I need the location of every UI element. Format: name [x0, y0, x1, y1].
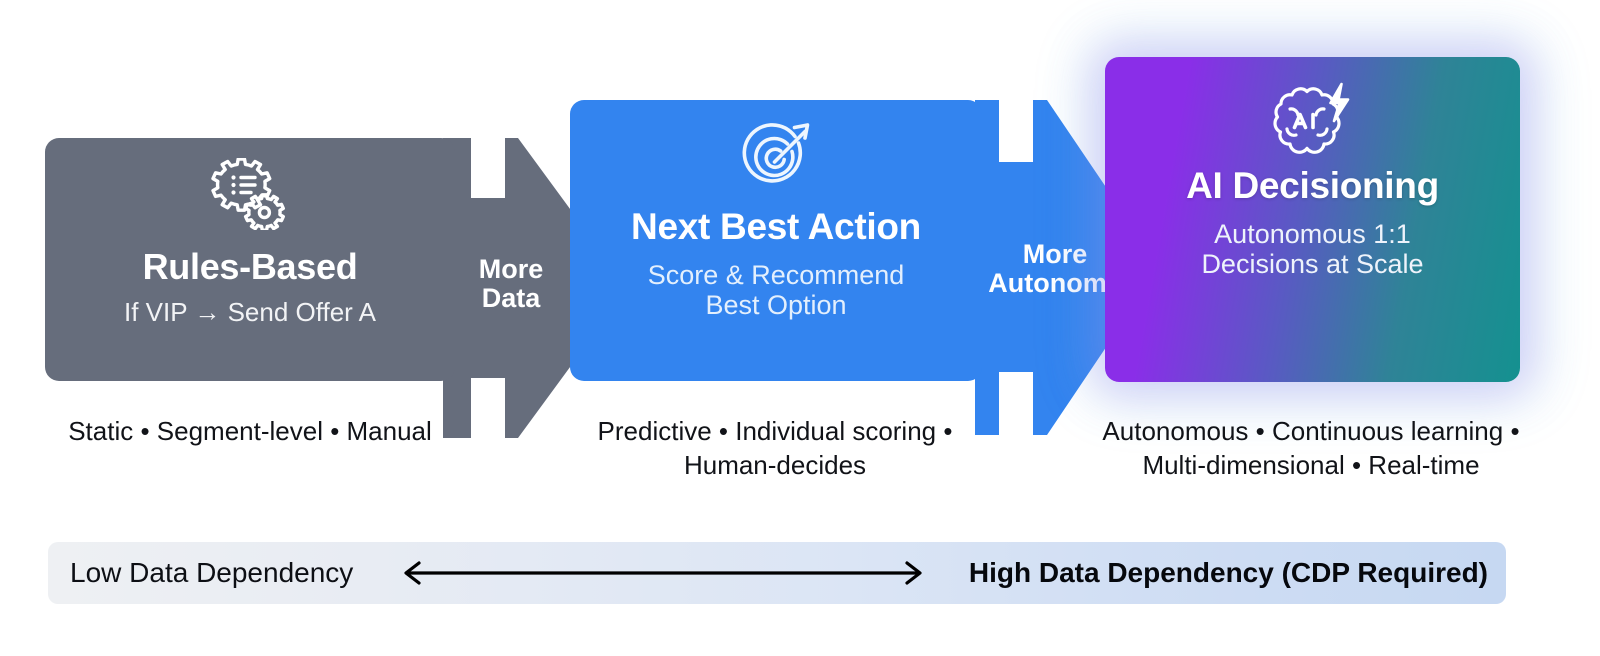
gear-list-icon: [45, 158, 455, 230]
scale-low-label: Low Data Dependency: [70, 557, 353, 589]
stage-card-rules-based[interactable]: Rules-Based If VIP → Send Offer A: [45, 138, 455, 381]
stage-subtitle-ai-decisioning: Autonomous 1:1 Decisions at Scale: [1105, 219, 1520, 279]
scale-high-label: High Data Dependency (CDP Required): [969, 557, 1488, 589]
progression-diagram: More Data More Autonomy Rules-Based: [0, 0, 1600, 656]
stage-card-ai-decisioning[interactable]: AI Decisioning Autonomous 1:1 Decisions …: [1105, 57, 1520, 382]
stage-title-ai-decisioning: AI Decisioning: [1105, 167, 1520, 206]
stage-subtitle-rules-based: If VIP → Send Offer A: [45, 298, 455, 327]
stage-caption-rules-based: Static • Segment-level • Manual: [30, 414, 470, 448]
stage-subtitle-line2: Decisions at Scale: [1105, 249, 1520, 279]
stage-title-next-best-action: Next Best Action: [570, 208, 982, 247]
stage-subtitle-line1: Autonomous 1:1: [1105, 219, 1520, 249]
data-dependency-scale: Low Data Dependency High Data Dependency…: [48, 542, 1506, 604]
stage-subtitle-line2: Best Option: [570, 290, 982, 320]
connector-label-more-data: More Data: [451, 255, 571, 313]
connector-label-line2: Data: [451, 284, 571, 313]
stage-caption-ai-decisioning: Autonomous • Continuous learning • Multi…: [1080, 414, 1542, 483]
target-arrow-icon: [570, 120, 982, 194]
stage-title-rules-based: Rules-Based: [45, 248, 455, 286]
connector-label-line1: More: [451, 255, 571, 284]
stage-caption-next-best-action: Predictive • Individual scoring • Human-…: [565, 414, 985, 483]
stage-card-next-best-action[interactable]: Next Best Action Score & Recommend Best …: [570, 100, 982, 381]
double-headed-arrow-icon: [393, 560, 933, 586]
stage-subtitle-line1: Score & Recommend: [570, 260, 982, 290]
stage-subtitle-next-best-action: Score & Recommend Best Option: [570, 260, 982, 320]
ai-brain-bolt-icon: [1105, 79, 1520, 161]
